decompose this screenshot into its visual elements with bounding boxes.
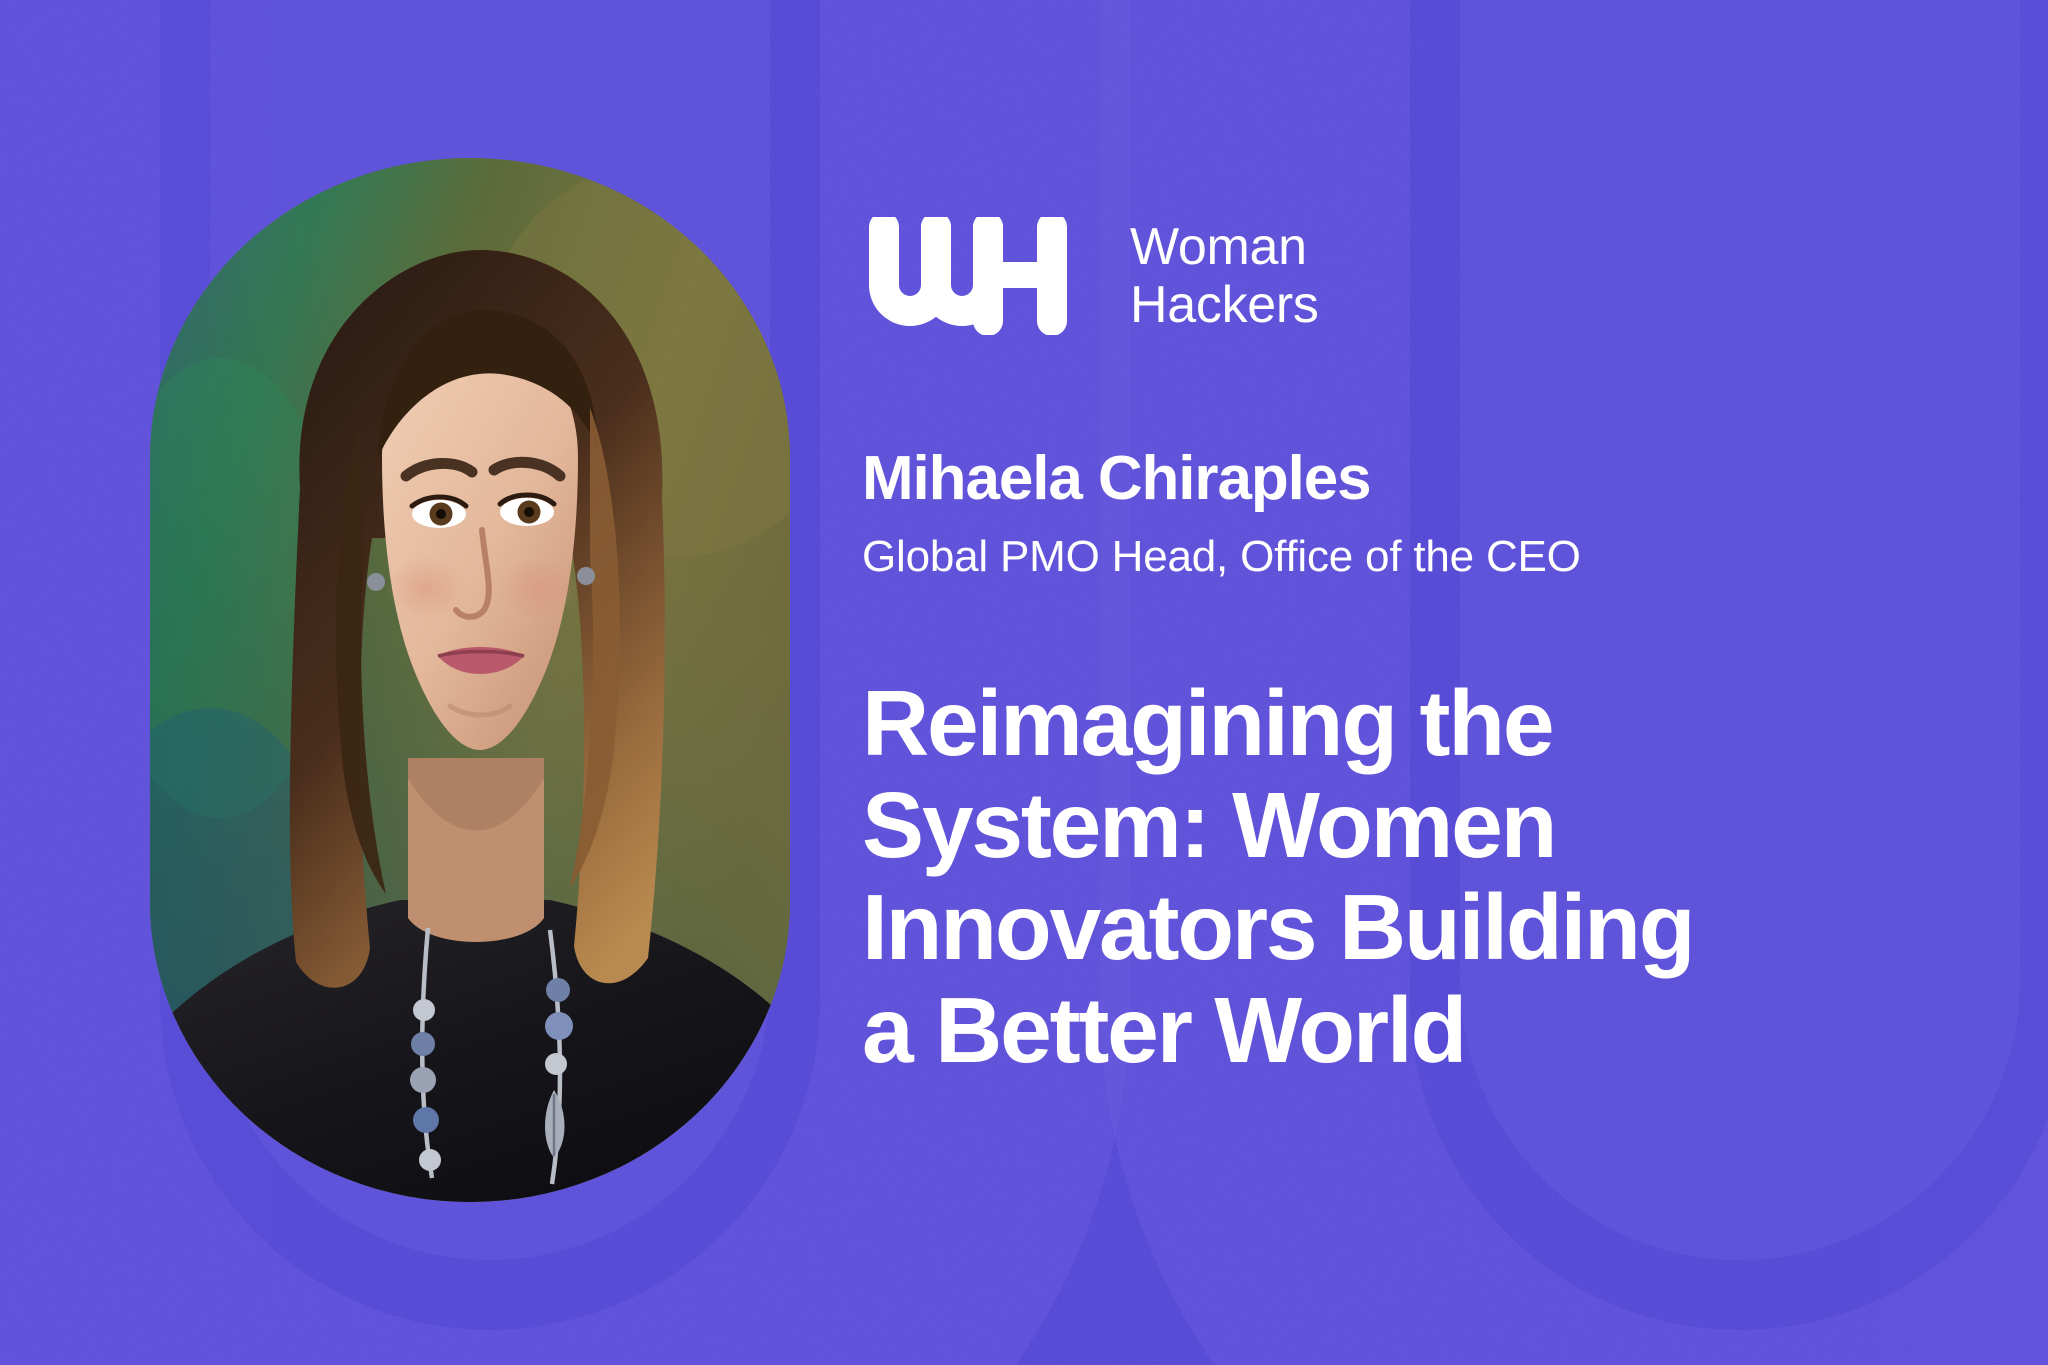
brand-name: Woman Hackers: [1130, 218, 1319, 334]
session-title: Reimagining the System: Women Innovators…: [862, 672, 1982, 1081]
session-title-line-1: Reimagining the: [862, 672, 1982, 774]
speaker-name: Mihaela Chiraples: [862, 446, 1982, 511]
wh-monogram-icon: [862, 217, 1094, 335]
speaker-portrait: [150, 158, 790, 1202]
content-column: Woman Hackers Mihaela Chiraples Global P…: [862, 210, 1982, 1081]
brand-logo: Woman Hackers: [862, 210, 1982, 342]
session-title-line-3: Innovators Building: [862, 876, 1982, 978]
session-title-line-4: a Better World: [862, 979, 1982, 1081]
session-title-line-2: System: Women: [862, 774, 1982, 876]
speaker-role: Global PMO Head, Office of the CEO: [862, 531, 1982, 584]
speaker-card: Woman Hackers Mihaela Chiraples Global P…: [0, 0, 2048, 1365]
